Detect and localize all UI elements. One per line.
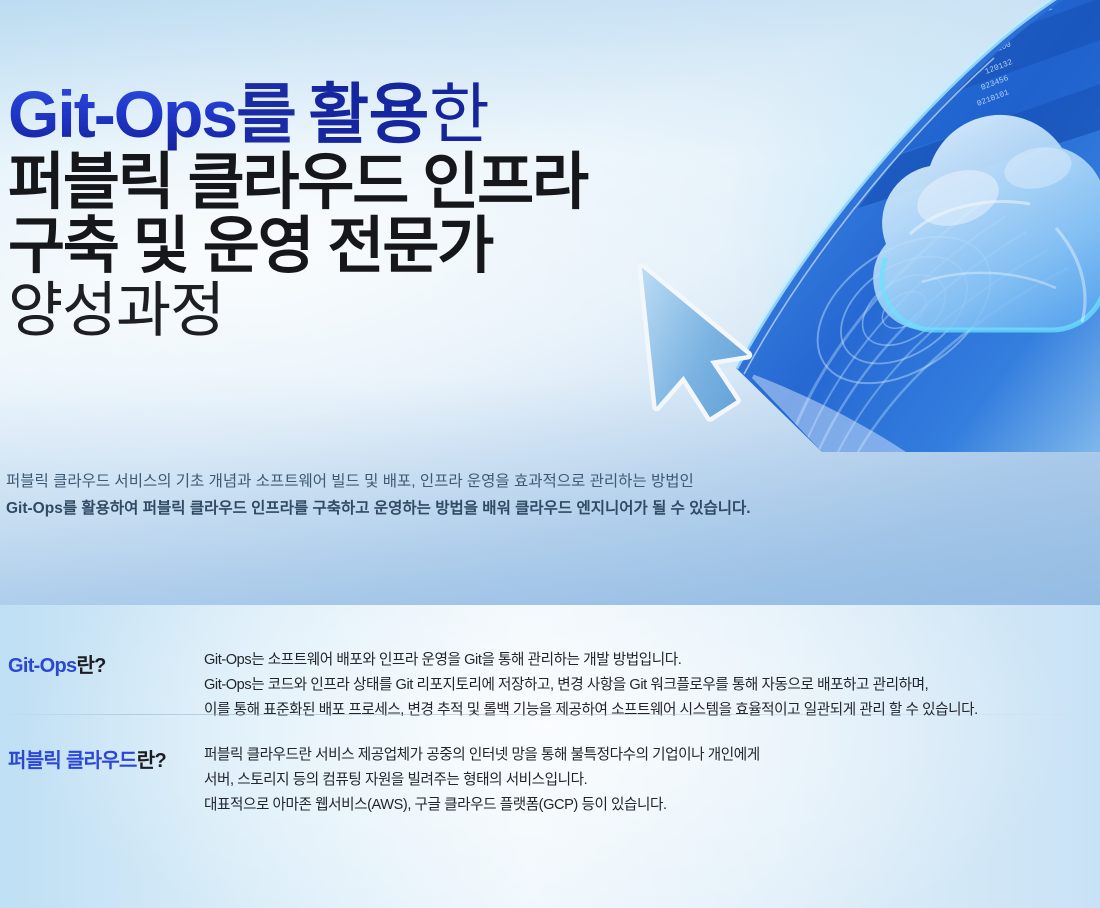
info-block-public-cloud: 퍼블릭 클라우드란? 퍼블릭 클라우드란 서비스 제공업체가 공중의 인터넷 망… <box>0 715 1100 818</box>
cloud-shape <box>873 115 1100 330</box>
svg-text:0210101: 0210101 <box>976 88 1011 109</box>
info-label-gitops-suffix: 란? <box>76 655 105 677</box>
svg-text:023456: 023456 <box>980 74 1010 93</box>
info-block-gitops: Git-Ops란? Git-Ops는 소프트웨어 배포와 인프라 운영을 Git… <box>0 605 1100 714</box>
svg-text:111103000101000100 // 800120: 111103000101000100 // 800120 <box>958 0 1087 25</box>
headline-line-2: 퍼블릭 클라우드 인프라 <box>8 153 587 214</box>
info-line: 퍼블릭 클라우드란 서비스 제공업체가 공중의 인터넷 망을 통해 불특정다수의… <box>204 743 1100 768</box>
svg-text:0101010 // 0182101: 0101010 // 0182101 <box>970 3 1054 42</box>
headline-particle: 를 <box>236 77 296 151</box>
info-line: 대표적으로 아마존 웹서비스(AWS), 구글 클라우드 플랫폼(GCP) 등이… <box>204 793 1100 818</box>
svg-text:120132: 120132 <box>984 58 1014 77</box>
headline-line-4: 양성과정 <box>8 282 587 341</box>
promo-banner-page: 10 019 // 01001011 11011100010 932 - 801… <box>0 0 1100 908</box>
svg-text:0110100: 0110100 <box>978 40 1013 61</box>
info-label-public-cloud-suffix: 란? <box>137 750 166 772</box>
hero-artwork: 10 019 // 01001011 11011100010 932 - 801… <box>586 0 1100 452</box>
brand-gitops: Git-Ops <box>8 77 236 151</box>
hero-headline: Git-Ops를활용한 퍼블릭 클라우드 인프라 구축 및 운영 전문가 양성과… <box>8 82 587 341</box>
headline-bold-word: 활용 <box>308 77 429 151</box>
mouse-cursor-arrow <box>642 258 754 423</box>
info-label-gitops: Git-Ops란? <box>8 648 204 678</box>
headline-light-word: 한 <box>429 77 489 151</box>
info-label-public-cloud-term: 퍼블릭 클라우드 <box>8 750 137 772</box>
server-ribbon: 10 019 // 01001011 11011100010 932 - 801… <box>736 0 1100 452</box>
hero-description-line-2: Git-Ops를 활용하여 퍼블릭 클라우드 인프라를 구축하고 운영하는 방법… <box>6 495 751 522</box>
info-label-gitops-term: Git-Ops <box>8 655 76 677</box>
headline-line-3: 구축 및 운영 전문가 <box>8 217 587 278</box>
info-line: Git-Ops는 소프트웨어 배포와 인프라 운영을 Git을 통해 관리하는 … <box>204 648 1100 673</box>
info-body-gitops: Git-Ops는 소프트웨어 배포와 인프라 운영을 Git을 통해 관리하는 … <box>204 648 1100 723</box>
info-line: 서버, 스토리지 등의 컴퓨팅 자원을 빌려주는 형태의 서비스입니다. <box>204 768 1100 793</box>
hero-description-line-1: 퍼블릭 클라우드 서비스의 기초 개념과 소프트웨어 빌드 및 배포, 인프라 … <box>6 468 751 495</box>
info-body-public-cloud: 퍼블릭 클라우드란 서비스 제공업체가 공중의 인터넷 망을 통해 불특정다수의… <box>204 743 1100 818</box>
hero-description: 퍼블릭 클라우드 서비스의 기초 개념과 소프트웨어 빌드 및 배포, 인프라 … <box>6 468 751 522</box>
info-line: Git-Ops는 코드와 인프라 상태를 Git 리포지토리에 저장하고, 변경… <box>204 673 1100 698</box>
info-label-public-cloud: 퍼블릭 클라우드란? <box>8 743 204 773</box>
svg-text:11011100010 932 - 8019 010: 11011100010 932 - 8019 010 <box>974 0 1094 7</box>
hero-section: 10 019 // 01001011 11011100010 932 - 801… <box>0 0 1100 605</box>
info-section: Git-Ops란? Git-Ops는 소프트웨어 배포와 인프라 운영을 Git… <box>0 605 1100 908</box>
headline-line-1: Git-Ops를활용한 <box>8 82 587 147</box>
